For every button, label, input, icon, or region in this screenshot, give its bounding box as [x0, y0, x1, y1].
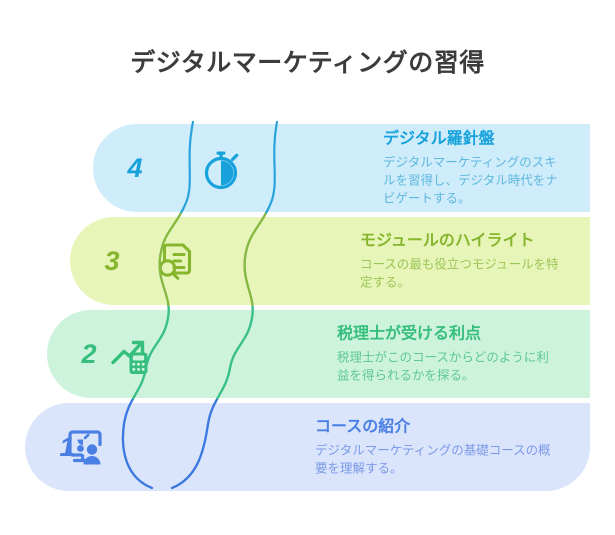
step-text-2: 税理士が受ける利点 税理士がこのコースからどのように利益を得られるかを探る。 — [337, 324, 560, 385]
growth-calculator-icon — [104, 328, 156, 380]
step-description-4: デジタルマーケティングのスキルを習得し、デジタル時代をナビゲートする。 — [383, 154, 560, 208]
step-band-4[interactable]: 4 デジタル羅針盤 デジタルマーケティングのスキルを習得し、デジタル時代をナビゲ… — [93, 124, 590, 212]
step-heading-2: 税理士が受ける利点 — [337, 324, 560, 346]
stopwatch-icon — [196, 142, 248, 194]
step-number-3: 3 — [84, 217, 140, 305]
step-heading-1: コースの紹介 — [315, 417, 560, 439]
steps-list: 4 デジタル羅針盤 デジタルマーケティングのスキルを習得し、デジタル時代をナビゲ… — [0, 0, 615, 535]
step-band-2[interactable]: 2 税理士が受ける利点 税理士がこのコースからどのように利益を得られる — [47, 310, 590, 398]
document-search-icon — [150, 235, 202, 287]
step-heading-4: デジタル羅針盤 — [383, 129, 560, 151]
presentation-person-icon — [59, 421, 111, 473]
step-band-3[interactable]: 3 モジュールのハイライト コースの最も役立つモジュールを特定する。 — [70, 217, 590, 305]
step-number-4: 4 — [107, 124, 163, 212]
step-text-1: コースの紹介 デジタルマーケティングの基礎コースの概要を理解する。 — [315, 417, 560, 478]
step-description-1: デジタルマーケティングの基礎コースの概要を理解する。 — [315, 442, 560, 478]
step-text-4: デジタル羅針盤 デジタルマーケティングのスキルを習得し、デジタル時代をナビゲート… — [383, 129, 560, 208]
step-heading-3: モジュールのハイライト — [360, 231, 560, 253]
step-description-2: 税理士がこのコースからどのように利益を得られるかを探る。 — [337, 349, 560, 385]
step-description-3: コースの最も役立つモジュールを特定する。 — [360, 256, 560, 292]
step-band-1[interactable]: 1 コースの紹介 デジタルマーケティングの基礎コースの概要を理解する。 — [25, 403, 590, 491]
step-text-3: モジュールのハイライト コースの最も役立つモジュールを特定する。 — [360, 231, 560, 292]
infographic-root: デジタルマーケティングの習得 4 デジタル羅針盤 デジタルマーケティングのスキル… — [0, 0, 615, 535]
